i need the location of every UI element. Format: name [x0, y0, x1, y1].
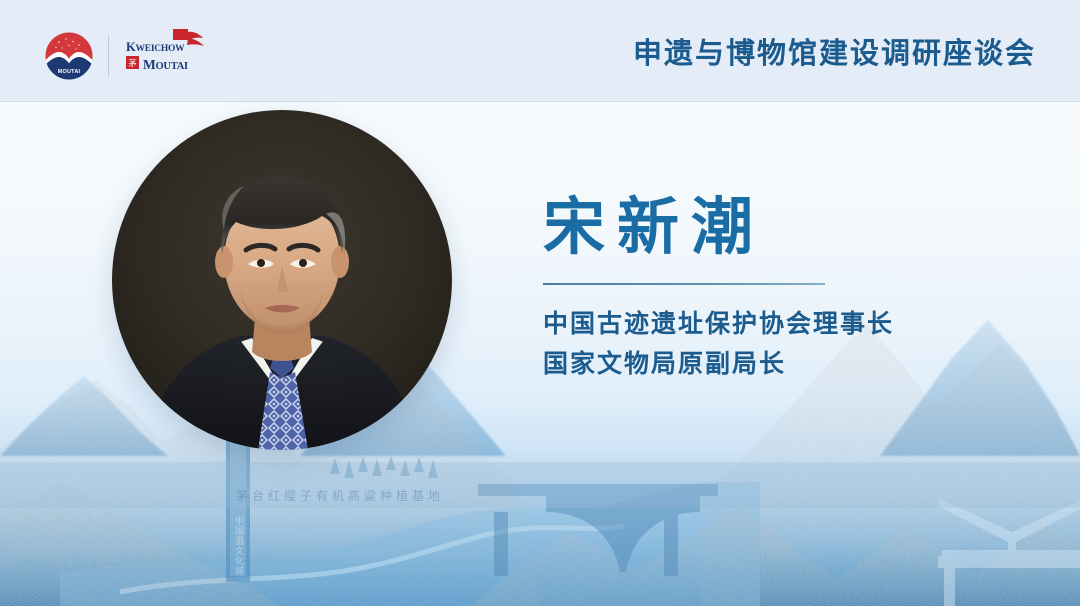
speaker-titles: 中国古迹遗址保护协会理事长 国家文物局原副局长 — [543, 305, 1013, 385]
background-stele-text: 中国酒文化城 — [231, 516, 245, 576]
brand-seal-glyph: 茅 — [128, 58, 137, 68]
moutai-mountain-circle-logo: MOUTAI MOUTAI — [44, 31, 94, 81]
speaker-name: 宋新潮 — [543, 196, 1013, 261]
speaker-title-line-1: 中国古迹遗址保护协会理事长 — [543, 305, 1013, 345]
presentation-slide: 茅台红缨子有机高粱种植基地 中国酒文化城 — [0, 0, 1080, 606]
kweichow-moutai-wordmark: 茅 KWEICHOW MOUTAI KWEICHOW MOUTAI — [123, 27, 207, 84]
svg-text:MOUTAI: MOUTAI — [143, 57, 188, 72]
speaker-title-line-2: 国家文物局原副局长 — [543, 345, 1013, 385]
brand-lockup: MOUTAI MOUTAI 茅 KWEICHOW MOUTAI — [44, 27, 207, 84]
svg-text:KWEICHOW: KWEICHOW — [126, 40, 185, 54]
speaker-divider-rule — [543, 283, 825, 285]
scenery-haze-band — [0, 462, 1080, 508]
svg-text:MOUTAI: MOUTAI — [58, 69, 81, 75]
speaker-info-block: 宋新潮 中国古迹遗址保护协会理事长 国家文物局原副局长 — [543, 196, 1013, 385]
event-title: 申遗与博物馆建设调研座谈会 — [633, 0, 1036, 101]
brand-divider — [108, 35, 109, 77]
background-caption-text: 茅台红缨子有机高粱种植基地 — [236, 487, 444, 504]
speaker-portrait-photo — [112, 110, 452, 450]
